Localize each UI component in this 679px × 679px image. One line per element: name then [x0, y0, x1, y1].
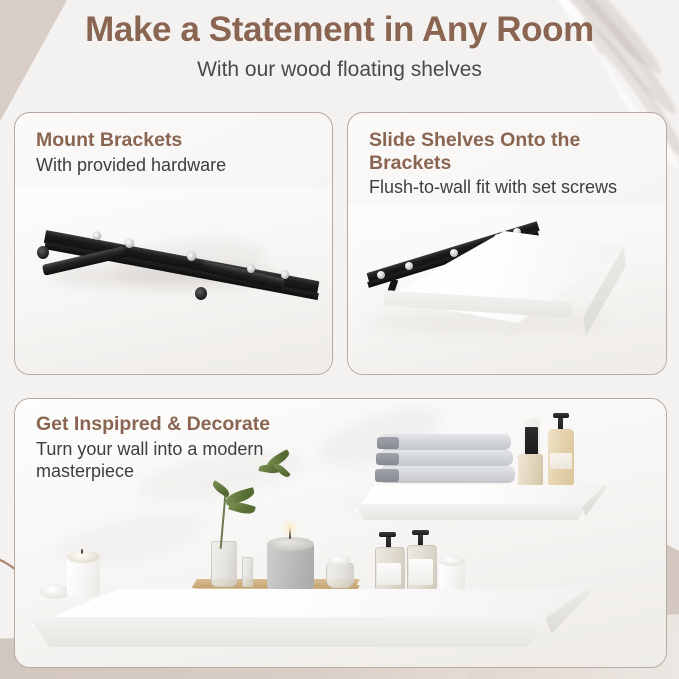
bracket-screw-3 [187, 252, 196, 261]
card-3-text-block: Get Inspipred & Decorate Turn your wall … [36, 413, 356, 483]
candle-jar-wax-top [67, 551, 100, 563]
card-1-subheading: With provided hardware [36, 154, 306, 177]
towel-top-fold [377, 437, 399, 449]
bracket-screw-1 [93, 232, 101, 240]
lower-shelf-front-face [29, 617, 549, 647]
candle-jar-wick [81, 549, 83, 554]
glass-vase [211, 541, 237, 587]
towel-middle [381, 450, 513, 466]
glass-tube [242, 557, 253, 587]
card-3-subheading: Turn your wall into a modern masterpiece [36, 438, 356, 483]
towel-bottom [381, 466, 515, 483]
bracket-screw-4 [247, 265, 255, 273]
card-2-heading: Slide Shelves Onto the Brackets [369, 129, 631, 174]
card-mount-brackets: Mount Brackets With provided hardware [14, 112, 333, 375]
product-infographic: Make a Statement in Any Room With our wo… [0, 0, 679, 679]
bracket-screw-2 [405, 262, 413, 270]
card-slide-shelves: Slide Shelves Onto the Brackets Flush-to… [347, 112, 667, 375]
card-get-inspired: Get Inspipred & Decorate Turn your wall … [14, 398, 667, 668]
small-glass-jar-lid [327, 555, 351, 566]
card-3-heading: Get Inspipred & Decorate [36, 413, 356, 436]
pump-bottle-1-label [377, 563, 401, 585]
pump-bottle-2-head [412, 530, 429, 535]
bracket-screw-1 [377, 271, 385, 279]
bracket-screw-5 [281, 271, 289, 279]
page-title: Make a Statement in Any Room [0, 10, 679, 50]
towel-top [381, 434, 511, 450]
candle-jar-lid [40, 584, 70, 599]
card-1-heading: Mount Brackets [36, 129, 306, 152]
amber-bottle-pump-head [553, 413, 569, 418]
bracket-screw-2 [125, 239, 134, 248]
small-glass-jar [326, 563, 354, 588]
page-subtitle: With our wood floating shelves [0, 58, 679, 82]
pump-bottle-2-label [409, 559, 433, 585]
gray-candle-wax-top [267, 537, 314, 551]
candle-jar [67, 557, 100, 597]
beige-cup [518, 454, 543, 489]
bracket-rod-right-cap [195, 287, 207, 300]
pump-bottle-1-head [379, 532, 396, 537]
candle-glow [281, 519, 299, 537]
towel-middle-fold [376, 453, 399, 465]
small-container-lid [439, 556, 465, 566]
bracket-screw-3 [450, 249, 458, 257]
card-2-text-block: Slide Shelves Onto the Brackets Flush-to… [369, 129, 631, 199]
upper-shelf-front-face [355, 504, 587, 520]
bracket-rod-left-cap [37, 246, 49, 259]
card-2-subheading: Flush-to-wall fit with set screws [369, 176, 631, 199]
amber-bottle-label [550, 453, 572, 469]
towel-bottom-fold [375, 469, 399, 482]
card-1-text-block: Mount Brackets With provided hardware [36, 129, 306, 176]
